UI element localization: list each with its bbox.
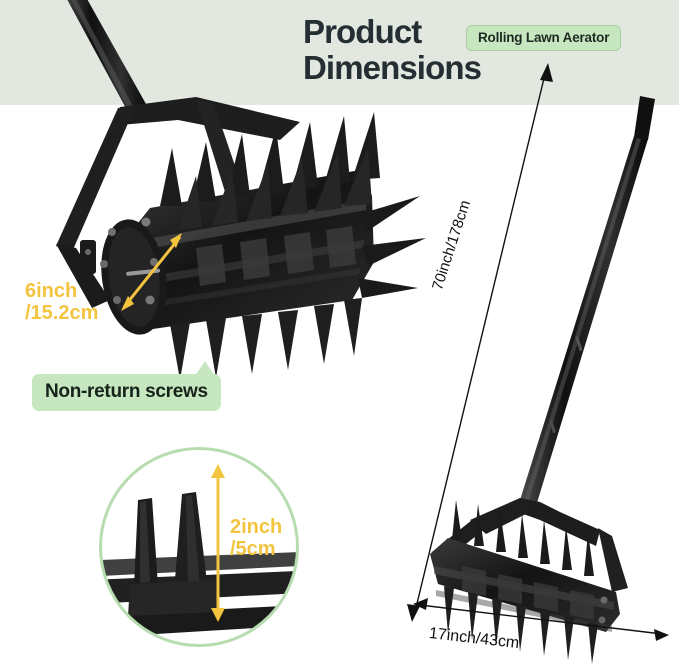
head-width-label: 17inch/43cm: [428, 625, 520, 653]
left-aerator-drum: [56, 97, 426, 380]
infographic-canvas: Product Dimensions Rolling Lawn Aerator: [0, 0, 679, 671]
non-return-screws-callout: Non-return screws: [32, 374, 221, 411]
drum-diameter-arrow: [121, 233, 182, 311]
handle-length-label: 70inch/178cm: [429, 198, 474, 292]
product-name-badge: Rolling Lawn Aerator: [466, 25, 621, 51]
detail-zoom-circle: [99, 447, 299, 647]
handle-length-arrow: [407, 63, 553, 622]
right-full-product: [430, 96, 655, 664]
drum-diameter-label: 6inch /15.2cm: [25, 280, 98, 325]
title-line-2: Dimensions: [303, 50, 663, 86]
